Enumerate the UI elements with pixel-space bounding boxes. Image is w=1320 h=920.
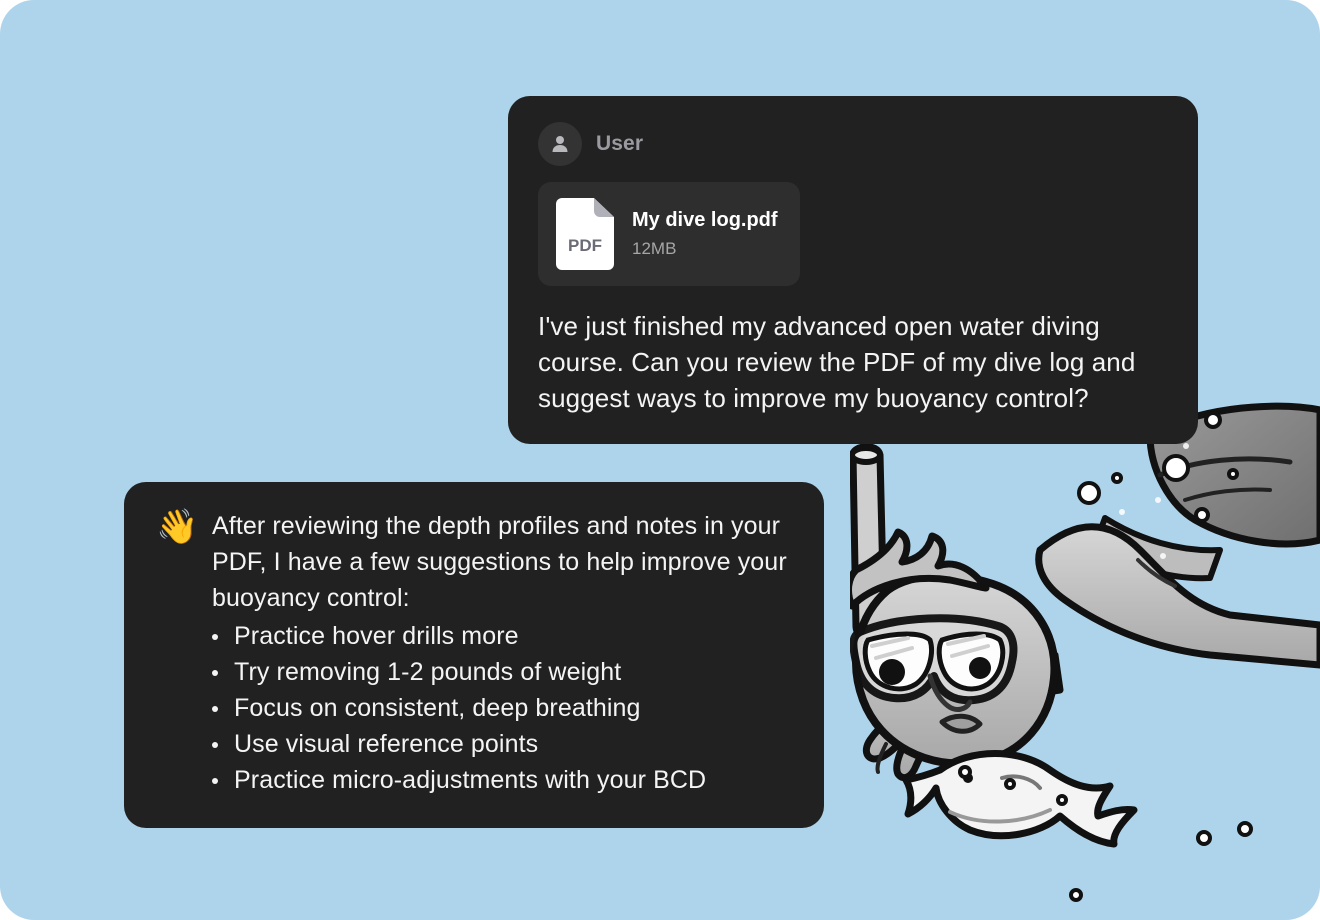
user-message-header: User [538, 122, 1168, 166]
attachment-file-name: My dive log.pdf [632, 209, 778, 232]
pdf-file-icon: PDF [556, 198, 614, 270]
scene-root: User PDF My dive log.pdf 12MB I've just … [0, 0, 1320, 920]
waving-hand-icon: 👋 [156, 508, 198, 546]
svg-text:PDF: PDF [568, 236, 602, 255]
suggestion-list-item: Practice micro-adjustments with your BCD [212, 762, 794, 798]
user-message-text: I've just finished my advanced open wate… [538, 308, 1168, 416]
assistant-message-bubble: 👋 After reviewing the depth profiles and… [124, 482, 824, 828]
pdf-attachment-card[interactable]: PDF My dive log.pdf 12MB [538, 182, 800, 286]
assistant-intro-text: After reviewing the depth profiles and n… [212, 508, 794, 616]
user-message-bubble: User PDF My dive log.pdf 12MB I've just … [508, 96, 1198, 444]
suggestion-list-item: Focus on consistent, deep breathing [212, 690, 794, 726]
suggestion-list: Practice hover drills moreTry removing 1… [156, 618, 794, 798]
suggestion-list-item: Try removing 1-2 pounds of weight [212, 654, 794, 690]
suggestion-list-item: Use visual reference points [212, 726, 794, 762]
attachment-file-size: 12MB [632, 239, 778, 259]
assistant-intro-row: 👋 After reviewing the depth profiles and… [156, 508, 794, 616]
attachment-meta: My dive log.pdf 12MB [632, 209, 778, 259]
snorkeler-underwater-illustration [850, 400, 1320, 920]
sender-name: User [596, 132, 643, 156]
person-avatar-icon [538, 122, 582, 166]
suggestion-list-item: Practice hover drills more [212, 618, 794, 654]
